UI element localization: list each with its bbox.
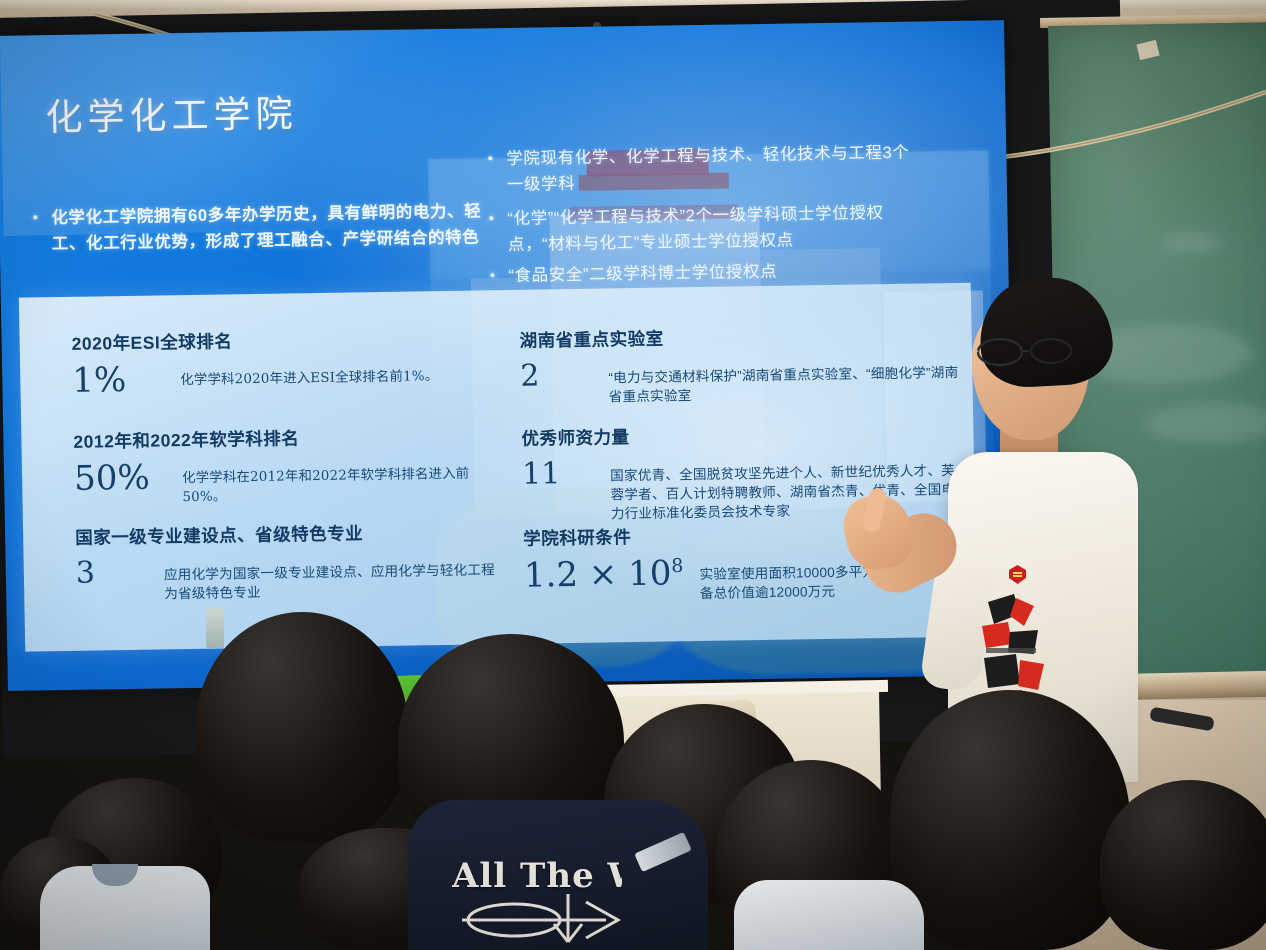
slide-bullet-text: 学院现有化学、化学工程与技术、轻化技术与工程3个一级学科 xyxy=(506,140,919,199)
audience-head xyxy=(1100,780,1266,950)
stat-value-base: 1.2 × 10 xyxy=(524,553,672,595)
projected-slide: 化学化工学院 化学化工学院拥有60多年办学历史，具有鲜明的电力、轻工、化工行业优… xyxy=(0,20,1016,691)
stats-column-left: 2020年ESI全球排名 1% 化学学科2020年进入ESI全球排名前1%。 2… xyxy=(71,290,491,297)
stat-value: 1% xyxy=(72,362,165,399)
bullet-dot-icon xyxy=(489,216,493,220)
slide-bullet-left-1: 化学化工学院拥有60多年办学历史，具有鲜明的电力、轻工、化工行业优势，形成了理工… xyxy=(33,198,494,257)
classroom-photo: 化学化工学院 化学化工学院拥有60多年办学历史，具有鲜明的电力、轻工、化工行业优… xyxy=(0,0,1266,950)
page-title: 化学化工学院 xyxy=(45,83,298,141)
stat-heading: 国家一级专业建设点、省级特色专业 xyxy=(75,518,495,550)
stat-heading: 湖南省重点实验室 xyxy=(519,321,959,353)
slide-bullet-right-2: “化学”“化学工程与技术”2个一级学科硕士学位授权点，“材料与化工”专业硕士学位… xyxy=(489,199,930,258)
bullet-dot-icon xyxy=(488,156,492,160)
water-bottle xyxy=(206,608,224,648)
audience-head xyxy=(890,690,1130,950)
stat-block-key-lab: 湖南省重点实验室 2 “电力与交通材料保护”湖南省重点实验室、“细胞化学”湖南省… xyxy=(519,321,960,408)
stat-value-exponent: 8 xyxy=(671,555,683,577)
stat-description: 化学学科在2012年和2022年软学科排名进入前50%。 xyxy=(182,455,495,507)
stat-value: 1.2 × 108 xyxy=(524,556,684,594)
stat-block-soft-ranking: 2012年和2022年软学科排名 50% 化学学科在2012年和2022年软学科… xyxy=(73,422,494,509)
audience-head xyxy=(196,612,408,842)
bullet-dot-icon xyxy=(33,215,37,219)
stat-description: 应用化学为国家一级专业建设点、应用化学与轻化工程为省级特色专业 xyxy=(164,551,497,604)
stat-heading: 2012年和2022年软学科排名 xyxy=(73,422,493,454)
stat-value: 50% xyxy=(74,460,167,497)
stats-card: 2020年ESI全球排名 1% 化学学科2020年进入ESI全球排名前1%。 2… xyxy=(19,283,977,652)
slide-bullet-text: 化学化工学院拥有60多年办学历史，具有鲜明的电力、轻工、化工行业优势，形成了理工… xyxy=(51,198,494,257)
shirt-compass-graphic-icon xyxy=(456,890,626,946)
audience-shirt-white-right xyxy=(734,880,924,950)
stat-description: “电力与交通材料保护”湖南省重点实验室、“细胞化学”湖南省重点实验室 xyxy=(608,354,961,407)
stat-heading: 2020年ESI全球排名 xyxy=(71,324,491,356)
slide-bullet-text: “化学”“化学工程与技术”2个一级学科硕士学位授权点，“材料与化工”专业硕士学位… xyxy=(507,199,930,258)
glasses-icon xyxy=(975,337,1079,367)
stat-block-major-construction: 国家一级专业建设点、省级特色专业 3 应用化学为国家一级专业建设点、应用化学与轻… xyxy=(75,518,496,605)
stat-value: 2 xyxy=(520,360,593,393)
slide-bullet-right-1: 学院现有化学、化学工程与技术、轻化技术与工程3个一级学科 xyxy=(488,140,919,199)
bullet-dot-icon xyxy=(490,273,494,277)
stat-description: 国家优青、全国脱贫攻坚先进个人、新世纪优秀人才、芙蓉学者、百人计划特聘教师、湖南… xyxy=(610,452,963,524)
stat-heading: 优秀师资力量 xyxy=(521,419,961,451)
shirt-slogan: All The Wa xyxy=(452,856,622,896)
party-badge-icon xyxy=(1009,565,1026,584)
stat-description: 化学学科2020年进入ESI全球排名前1%。 xyxy=(180,358,439,391)
stat-block-esi: 2020年ESI全球排名 1% 化学学科2020年进入ESI全球排名前1%。 xyxy=(71,324,492,399)
stat-value: 3 xyxy=(76,557,149,590)
slide-bullet-text: “食品安全”二级学科博士学位授权点 xyxy=(508,259,777,289)
stat-value: 11 xyxy=(522,458,595,491)
